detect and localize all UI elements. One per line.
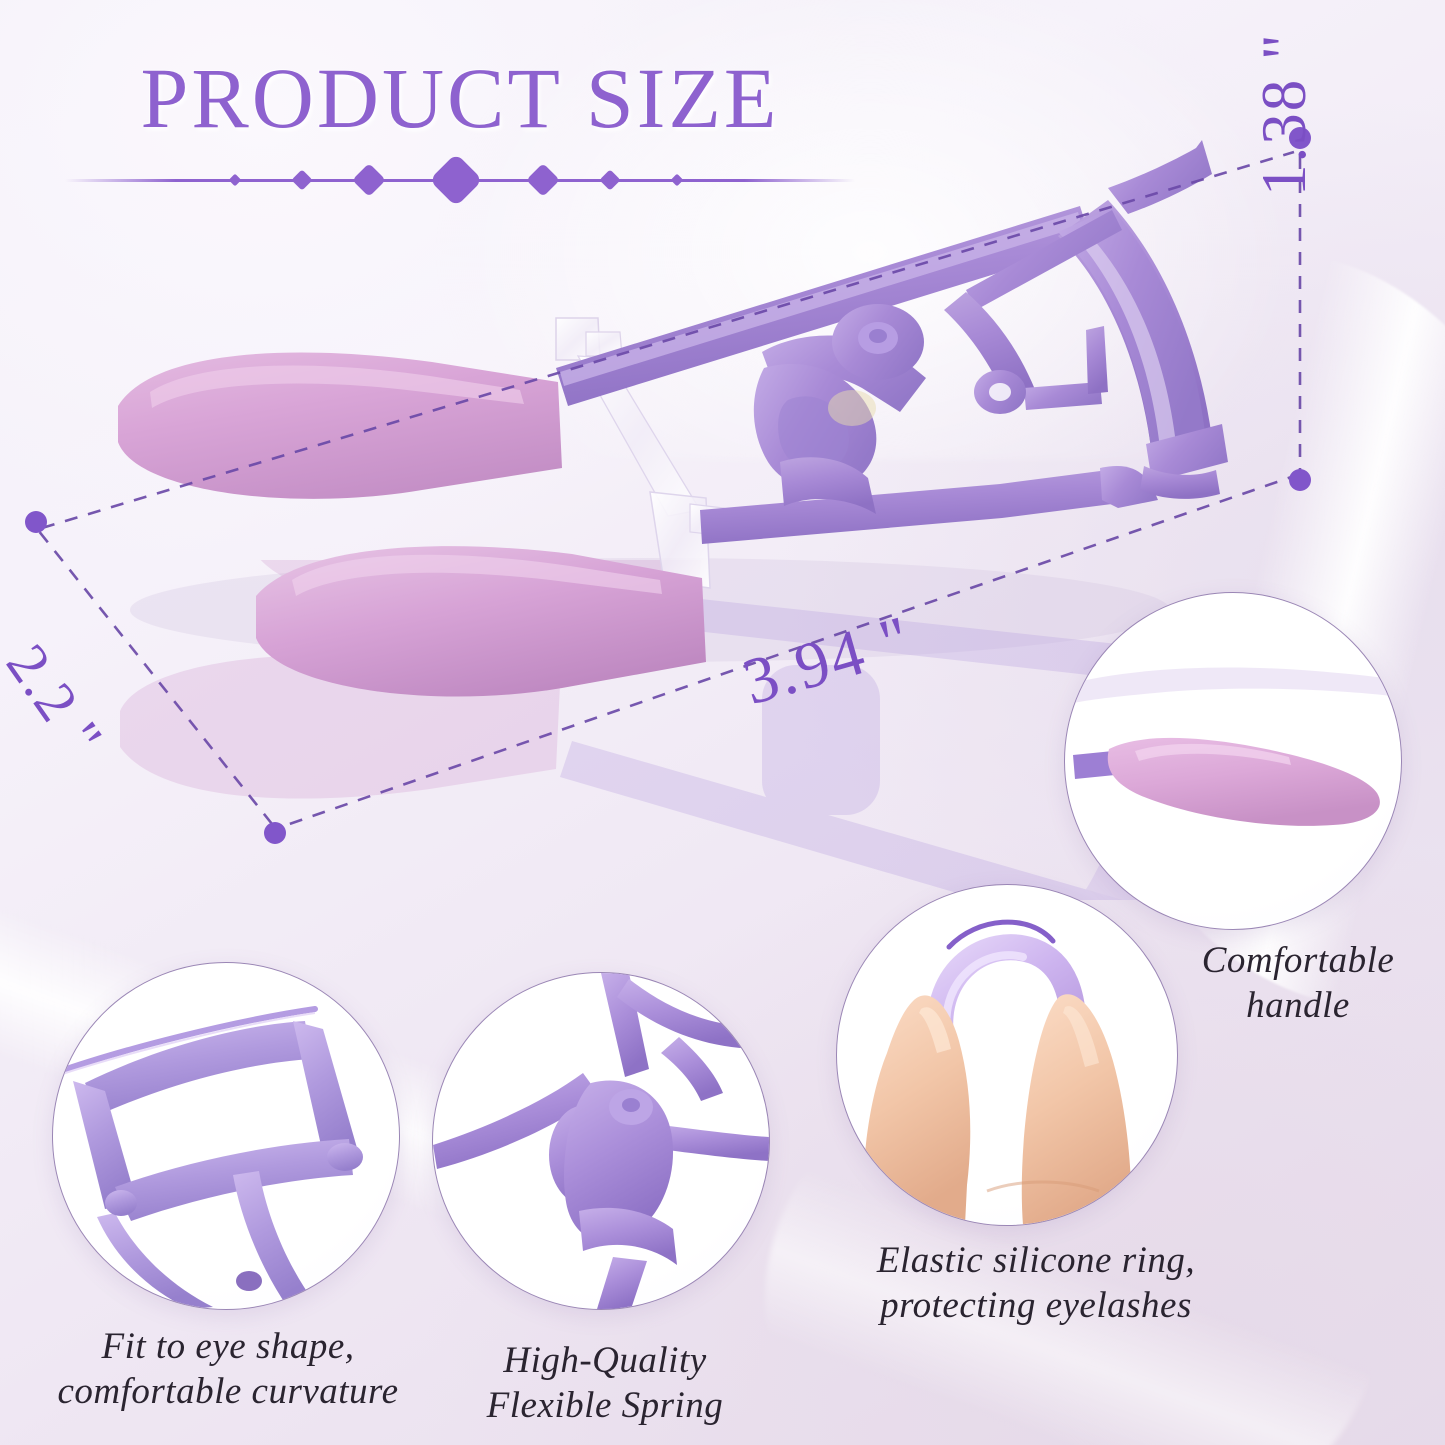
feature-caption-comfortable-handle: Comfortable handle — [1148, 938, 1445, 1028]
caption-line: High-Quality — [430, 1338, 780, 1383]
diamond-sparkle-divider-icon — [65, 158, 855, 202]
dimension-label-width: 3.94 " — [735, 601, 920, 721]
caption-line: comfortable curvature — [18, 1369, 438, 1414]
caption-line: Elastic silicone ring, — [826, 1238, 1246, 1283]
dimension-label-height: 1.38 " — [1248, 32, 1321, 196]
caption-line: handle — [1148, 983, 1445, 1028]
divider-diamond — [599, 170, 620, 191]
divider-diamond — [291, 170, 312, 191]
infographic-canvas: PRODUCT SIZE — [0, 0, 1445, 1445]
caption-line: Comfortable — [1148, 938, 1445, 983]
feature-image-comfortable-handle — [1064, 592, 1402, 930]
header: PRODUCT SIZE — [0, 56, 920, 202]
page-title: PRODUCT SIZE — [0, 56, 920, 140]
feature-image-silicone-ring — [836, 884, 1178, 1226]
divider-diamond — [671, 174, 684, 187]
caption-line: Flexible Spring — [430, 1383, 780, 1428]
feature-caption-eye-shape: Fit to eye shape, comfortable curvature — [18, 1324, 438, 1414]
feature-caption-silicone-ring: Elastic silicone ring, protecting eyelas… — [826, 1238, 1246, 1328]
caption-line: Fit to eye shape, — [18, 1324, 438, 1369]
feature-image-flexible-spring — [432, 972, 770, 1310]
divider-diamond — [352, 163, 386, 197]
divider-diamond — [429, 153, 483, 207]
dimension-label-depth: 2.2 " — [0, 632, 117, 769]
divider-diamond — [526, 163, 560, 197]
caption-line: protecting eyelashes — [826, 1283, 1246, 1328]
feature-image-eye-shape — [52, 962, 400, 1310]
feature-caption-flexible-spring: High-Quality Flexible Spring — [430, 1338, 780, 1428]
divider-diamond — [228, 174, 241, 187]
